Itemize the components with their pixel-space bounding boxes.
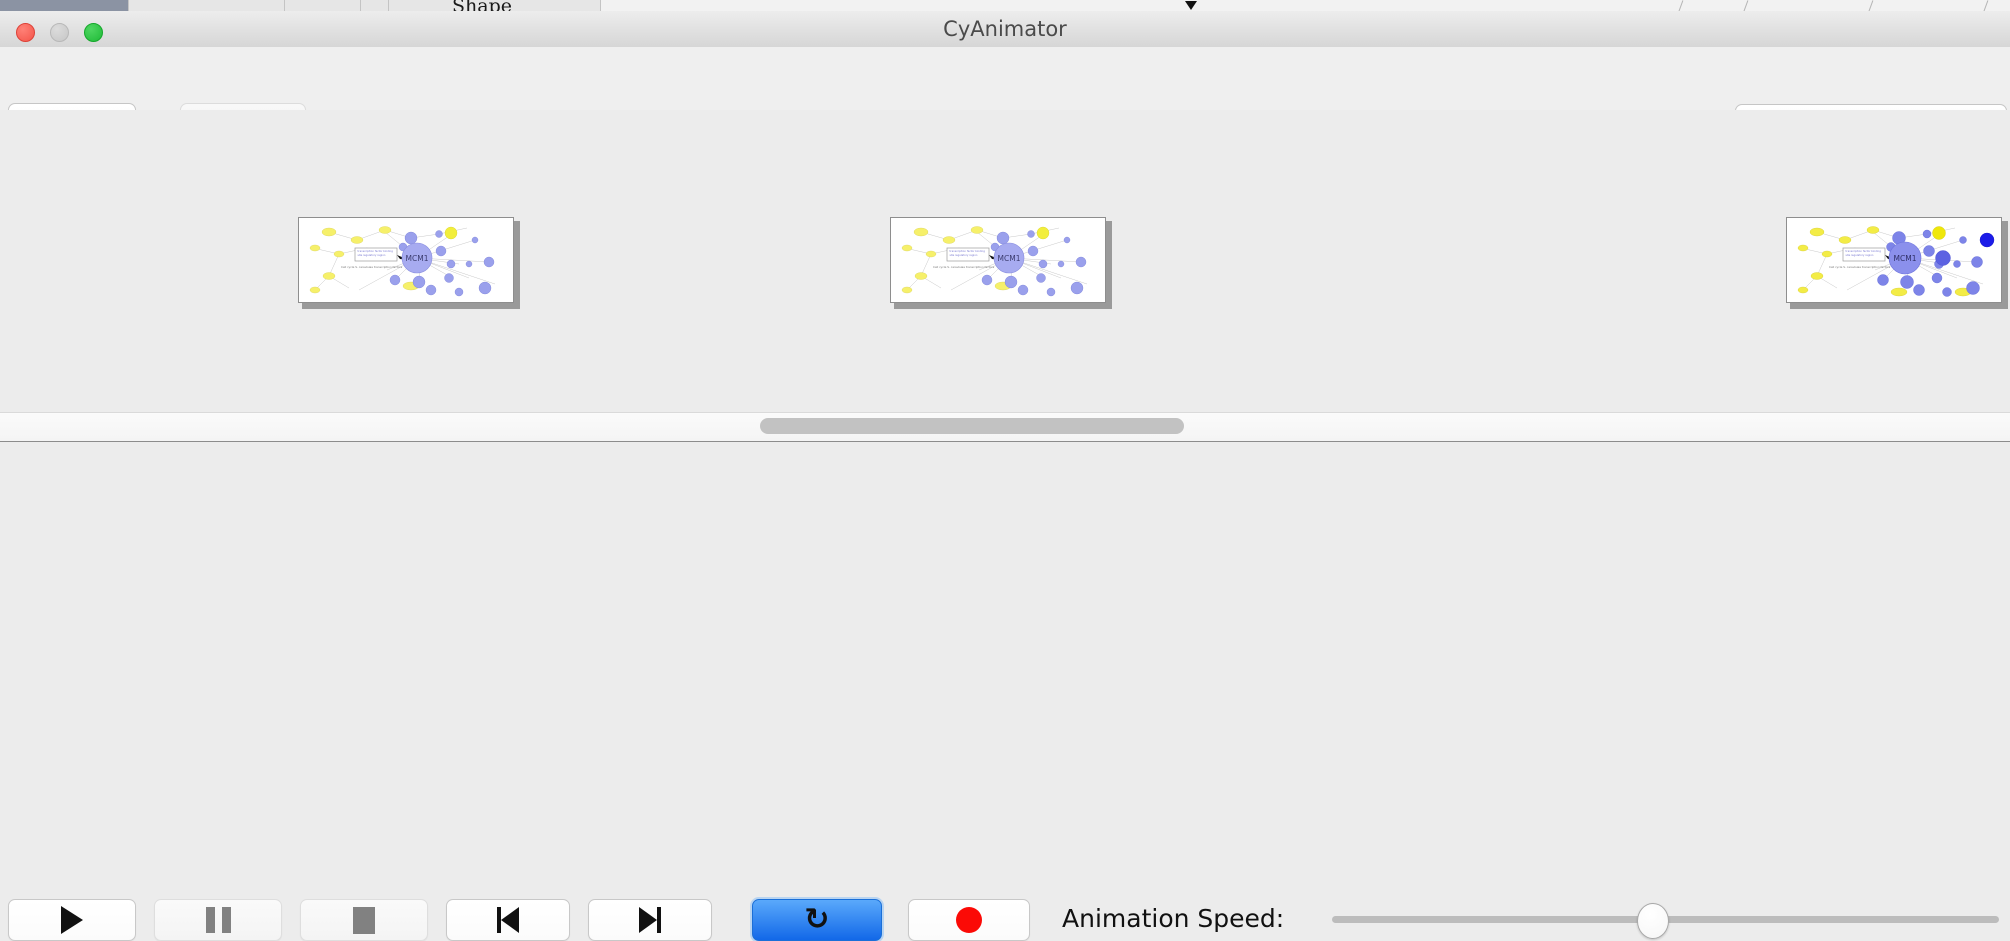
- skip-back-icon: [497, 907, 519, 933]
- toolbar: ✚ Clear All Frames: [0, 47, 2010, 111]
- network-graph-preview: transcription factor binding site regula…: [891, 218, 1105, 302]
- scrollbar-thumb[interactable]: [760, 418, 1184, 434]
- skip-forward-icon: [639, 907, 661, 933]
- svg-text:site regulatory region: site regulatory region: [1846, 253, 1874, 257]
- background-cursor-arrow: [1185, 1, 1197, 10]
- bg-tab: [285, 0, 361, 11]
- timeline-panel[interactable]: transcription factor binding site regula…: [0, 110, 2010, 412]
- record-icon: [956, 907, 982, 933]
- playback-controls: ↻ Animation Speed:: [0, 442, 2010, 510]
- network-graph-preview: transcription factor binding site regula…: [1787, 218, 2001, 302]
- title-bar[interactable]: CyAnimator: [0, 11, 2010, 48]
- loop-button[interactable]: ↻: [752, 899, 882, 941]
- pause-icon: [206, 907, 231, 933]
- last-frame-button[interactable]: [588, 899, 712, 941]
- window-title: CyAnimator: [0, 11, 2010, 47]
- first-frame-button[interactable]: [446, 899, 570, 941]
- frame-thumbnail: transcription factor binding site regula…: [1786, 217, 2002, 303]
- record-button[interactable]: [908, 899, 1030, 941]
- bg-tab-selected: [0, 0, 129, 11]
- play-icon: [61, 906, 83, 934]
- timeline-scrollbar[interactable]: [0, 412, 2010, 443]
- svg-text:Cell cycle S. cerevisiae tran: Cell cycle S. cerevisiae transcription f…: [933, 265, 995, 269]
- svg-text:MCM1: MCM1: [998, 254, 1021, 263]
- svg-text:transcription factor binding: transcription factor binding: [1846, 249, 1882, 253]
- svg-text:site regulatory region: site regulatory region: [358, 253, 386, 257]
- svg-text:Cell cycle S. cerevisiae tran: Cell cycle S. cerevisiae transcription f…: [341, 265, 403, 269]
- loop-icon: ↻: [804, 905, 829, 935]
- timeline-frame[interactable]: transcription factor binding site regula…: [298, 217, 518, 307]
- svg-text:site regulatory region: site regulatory region: [950, 253, 978, 257]
- cyanimator-window: Shape CyAnimator ✚ Clear All Frames: [0, 0, 2010, 510]
- bg-tab: [129, 0, 285, 11]
- frame-thumbnail: transcription factor binding site regula…: [890, 217, 1106, 303]
- svg-text:Cell cycle S. cerevisiae tran: Cell cycle S. cerevisiae transcription f…: [1829, 265, 1891, 269]
- animation-speed-slider-thumb[interactable]: [1637, 903, 1669, 939]
- stop-button[interactable]: [300, 899, 428, 941]
- svg-text:transcription factor binding: transcription factor binding: [950, 249, 986, 253]
- timeline-frame[interactable]: transcription factor binding site regula…: [1786, 217, 2006, 307]
- animation-speed-label: Animation Speed:: [1062, 899, 1284, 939]
- svg-text:MCM1: MCM1: [1894, 254, 1917, 263]
- network-graph-preview: transcription factor binding site regula…: [299, 218, 513, 302]
- svg-text:MCM1: MCM1: [406, 254, 429, 263]
- timeline-frame[interactable]: transcription factor binding site regula…: [890, 217, 1110, 307]
- play-button[interactable]: [8, 899, 136, 941]
- bg-tab: [361, 0, 389, 11]
- stop-icon: [353, 907, 375, 934]
- pause-button[interactable]: [154, 899, 282, 941]
- frame-thumbnail: transcription factor binding site regula…: [298, 217, 514, 303]
- svg-text:transcription factor binding: transcription factor binding: [358, 249, 394, 253]
